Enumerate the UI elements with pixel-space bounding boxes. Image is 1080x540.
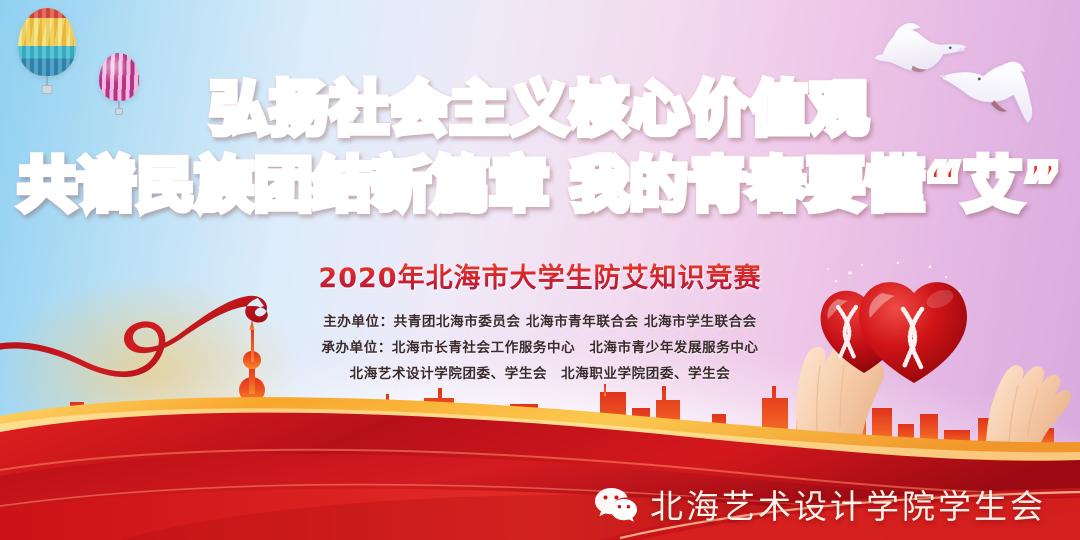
poster-canvas: 弘扬社会主义核心价值观 共谱民族团结新篇章 我的青春要懂“艾” 2020年北海市… bbox=[0, 0, 1080, 540]
credits-block: 主办单位：共青团北海市委员会 北海市青年联合会 北海市学生联合会 承办单位：北海… bbox=[0, 310, 1080, 382]
credit-line-schools: 北海艺术设计学院团委、学生会 北海职业学院团委、学生会 bbox=[350, 362, 731, 382]
credit-line-organizers: 主办单位：共青团北海市委员会 北海市青年联合会 北海市学生联合会 bbox=[323, 310, 757, 330]
credit-line-hosts: 承办单位：北海市长青社会工作服务中心 北海市青少年发展服务中心 bbox=[321, 336, 758, 356]
hot-air-balloon-yellow-icon bbox=[18, 8, 76, 76]
wechat-account-bar: 北海艺术设计学院学生会 bbox=[568, 476, 1080, 532]
wechat-account-name: 北海艺术设计学院学生会 bbox=[650, 480, 1046, 528]
event-subtitle: 2020年北海市大学生防艾知识竞赛 bbox=[0, 256, 1080, 295]
headline-line-1: 弘扬社会主义核心价值观 bbox=[0, 78, 1080, 140]
headline-line-2: 共谱民族团结新篇章 我的青春要懂“艾” bbox=[0, 154, 1080, 216]
wechat-icon bbox=[594, 486, 638, 522]
